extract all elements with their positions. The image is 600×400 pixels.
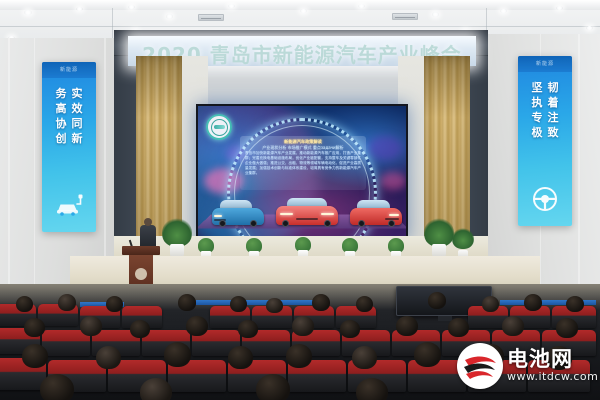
slide-car-red-sedan (276, 192, 338, 225)
lectern-top (122, 246, 160, 255)
audience-head (524, 294, 542, 311)
banner-char: 新 (72, 133, 83, 145)
downlight (76, 7, 83, 11)
right-banner-header-label: 新能源 (518, 56, 572, 72)
wheel (250, 220, 257, 227)
audience-head (58, 294, 76, 311)
watermark-brand: 电池网 (507, 348, 598, 370)
audience-head (502, 316, 524, 336)
banner-char: 坚 (532, 82, 543, 94)
conference-hall-photo: 2020 青岛市新能源汽车产业峰会 新能源汽车政策解读 产业现状分析 市场推广模… (0, 0, 600, 400)
slide-body-text: 青岛市加快新能源汽车产业发展，推动新能源汽车推广应用，打造产业集群；完善充换电基… (240, 150, 366, 176)
palm-foliage (424, 218, 454, 247)
stage-palm-right (424, 218, 454, 258)
ceiling-vent (198, 14, 224, 21)
banner-char: 务 (56, 88, 67, 100)
right-banner-column-1: 坚 执 专 极 (532, 82, 543, 139)
logo-swoosh (457, 343, 503, 389)
audience-head-front (40, 374, 74, 400)
audience-head (340, 320, 360, 338)
watermark-url: www.itdcw.com (507, 370, 598, 384)
downlight (128, 5, 135, 9)
right-banner-header: 新能源 (518, 56, 572, 72)
audience-head (238, 320, 258, 338)
downlight (24, 10, 32, 15)
wheel (219, 220, 226, 227)
banner-char: 专 (532, 112, 543, 124)
slide-car-red-suv (350, 195, 402, 225)
presenter-head (144, 218, 152, 226)
banner-char: 实 (72, 88, 83, 100)
lectern-emblem (135, 268, 147, 280)
slide-car-blue-suv (212, 195, 264, 225)
watermark-text: 电池网 www.itdcw.com (507, 348, 598, 384)
downlight (500, 9, 507, 13)
audience-head (106, 296, 123, 312)
led-blob (380, 172, 406, 190)
audience-head (356, 296, 373, 312)
audience-head (24, 318, 45, 337)
palm-foliage (162, 218, 192, 247)
wheel (388, 220, 395, 227)
audience-head (396, 316, 418, 336)
right-banner-column-2: 韧 着 注 致 (548, 82, 559, 139)
ceiling-bevel (0, 0, 600, 10)
downlight (300, 9, 307, 13)
audience-head (312, 294, 330, 311)
banner-char: 同 (72, 118, 83, 130)
banner-char: 高 (56, 103, 67, 115)
audience-head (22, 344, 48, 368)
audience-head (414, 342, 441, 367)
audience-head-front (140, 378, 172, 400)
aisle-rail (196, 300, 316, 305)
right-banner-columns: 坚 执 专 极 韧 着 注 致 (518, 82, 572, 139)
banner-char: 注 (548, 112, 559, 124)
audience-head (352, 346, 377, 369)
audience-head (482, 296, 499, 312)
headlight (389, 214, 399, 216)
led-screen: 新能源汽车政策解读 产业现状分析 市场推广模式 重点задачи解析 青岛市加快… (196, 104, 408, 241)
banner-char: 创 (56, 133, 67, 145)
right-standee-banner: 新能源 坚 执 专 极 韧 着 注 致 (518, 56, 572, 226)
audience-head (266, 298, 283, 313)
battery-net-logo-icon (457, 343, 503, 389)
banner-char: 着 (548, 97, 559, 109)
audience-head (448, 318, 469, 337)
led-emblem-logo (206, 114, 232, 140)
banner-char: 极 (532, 127, 543, 139)
stage-soffit-left-return (114, 56, 138, 256)
headlight (280, 213, 293, 215)
wheel (324, 220, 331, 227)
banner-char: 协 (56, 118, 67, 130)
audience-head-front (356, 378, 388, 400)
downlight (166, 14, 173, 19)
grille (296, 218, 318, 220)
audience-head (130, 320, 150, 338)
left-standee-banner: 新能源 务 高 协 创 实 效 同 新 (42, 62, 96, 232)
banner-char: 效 (72, 103, 83, 115)
ev-charging-car-icon (54, 192, 84, 218)
audience-head (566, 296, 584, 312)
left-banner-columns: 务 高 协 创 实 效 同 新 (42, 88, 96, 145)
left-banner-header-label: 新能源 (42, 62, 96, 78)
banner-char: 韧 (548, 82, 559, 94)
audience-head (16, 296, 33, 312)
downlight (586, 26, 593, 30)
presenter-torso (140, 225, 156, 248)
left-banner-column-1: 务 高 协 创 (56, 88, 67, 145)
banner-char: 执 (532, 97, 543, 109)
audience-head (428, 292, 446, 309)
led-blob (368, 136, 402, 160)
audience-head (286, 344, 312, 368)
ceiling-panel-line (0, 26, 600, 27)
downlight (432, 12, 439, 17)
downlight (228, 4, 235, 8)
wheel (282, 220, 289, 227)
headlight (214, 215, 222, 217)
left-banner-header: 新能源 (42, 62, 96, 78)
audience-head (164, 342, 191, 367)
slide-text-card: 新能源汽车政策解读 产业现状分析 市场推广模式 重点задачи解析 青岛市加快… (240, 136, 366, 190)
audience-head (230, 296, 247, 312)
audience-head (80, 316, 102, 336)
wheel (358, 220, 365, 227)
banner-char: 致 (548, 127, 559, 139)
headlight (321, 213, 334, 215)
audience-head (186, 316, 208, 336)
audience-head-front (256, 374, 290, 400)
palm-foliage (452, 228, 474, 249)
audience-head (96, 346, 121, 369)
left-banner-column-2: 实 效 同 新 (72, 88, 83, 145)
watermark: 电池网 www.itdcw.com (457, 338, 595, 394)
audience-head (228, 346, 253, 369)
ceiling-vent (392, 13, 418, 20)
stage-palm-left (162, 218, 192, 258)
steering-wheel-icon (530, 186, 560, 212)
led-emblem-mark (214, 125, 225, 129)
audience-head (178, 294, 196, 311)
downlight (556, 6, 563, 10)
presenter (140, 218, 156, 248)
audience-head (292, 316, 314, 336)
led-emblem-ring (211, 119, 228, 136)
audience-head (556, 318, 578, 338)
downlight (358, 4, 365, 8)
